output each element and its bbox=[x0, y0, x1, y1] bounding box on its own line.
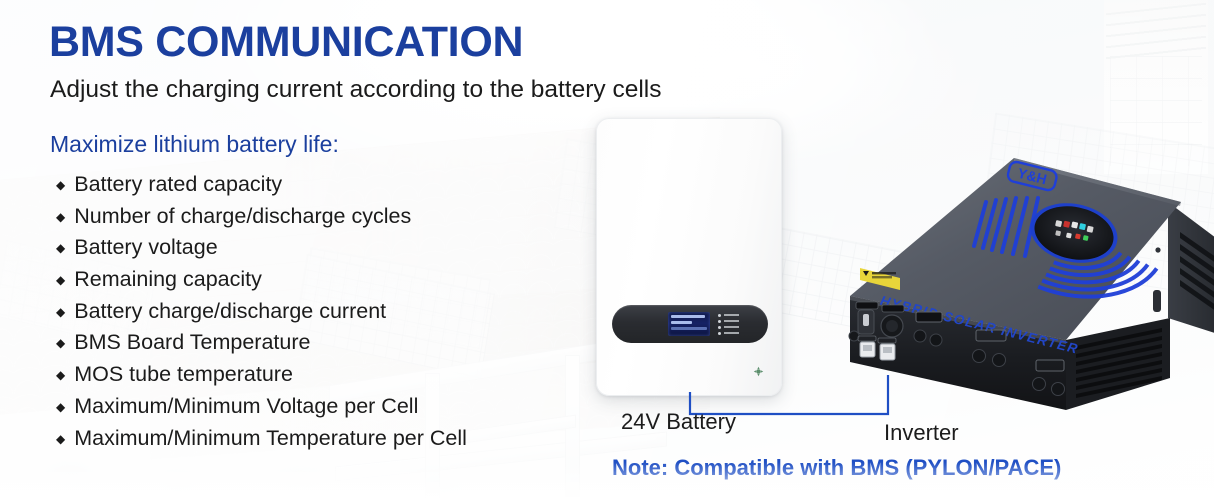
list-item: ◆ MOS tube temperature bbox=[56, 362, 576, 394]
list-item: ◆ BMS Board Temperature bbox=[56, 330, 576, 362]
page-subtitle: Adjust the charging current according to… bbox=[50, 76, 661, 104]
list-item: ◆ Maximum/Minimum Temperature per Cell bbox=[56, 426, 576, 458]
text-content: BMS COMMUNICATION Adjust the charging cu… bbox=[0, 0, 1214, 498]
list-item: ◆ Maximum/Minimum Voltage per Cell bbox=[56, 394, 576, 426]
diamond-bullet-icon: ◆ bbox=[56, 433, 65, 445]
list-item-label: MOS tube temperature bbox=[74, 362, 293, 387]
diamond-bullet-icon: ◆ bbox=[56, 306, 65, 318]
diamond-bullet-icon: ◆ bbox=[56, 242, 65, 254]
list-item-label: Maximum/Minimum Temperature per Cell bbox=[74, 426, 467, 451]
diamond-bullet-icon: ◆ bbox=[56, 211, 65, 223]
features-list: ◆ Battery rated capacity ◆ Number of cha… bbox=[56, 172, 576, 457]
features-heading: Maximize lithium battery life: bbox=[50, 131, 339, 157]
list-item-label: Battery voltage bbox=[74, 235, 217, 260]
list-item: ◆ Battery voltage bbox=[56, 235, 576, 267]
bms-communication-banner: Y&H HYBRID SOLAR INVERTER bbox=[0, 0, 1214, 498]
diamond-bullet-icon: ◆ bbox=[56, 337, 65, 349]
list-item-label: Battery charge/discharge current bbox=[74, 299, 386, 324]
inverter-caption: Inverter bbox=[884, 420, 959, 446]
list-item: ◆ Remaining capacity bbox=[56, 267, 576, 299]
page-title: BMS COMMUNICATION bbox=[49, 20, 523, 66]
list-item: ◆ Battery rated capacity bbox=[56, 172, 576, 204]
diamond-bullet-icon: ◆ bbox=[56, 401, 65, 413]
list-item-label: Maximum/Minimum Voltage per Cell bbox=[74, 394, 418, 419]
diamond-bullet-icon: ◆ bbox=[56, 274, 65, 286]
list-item-label: Number of charge/discharge cycles bbox=[74, 204, 411, 229]
diamond-bullet-icon: ◆ bbox=[56, 179, 65, 191]
battery-caption: 24V Battery bbox=[621, 409, 736, 435]
list-item-label: BMS Board Temperature bbox=[74, 330, 310, 355]
list-item: ◆ Battery charge/discharge current bbox=[56, 299, 576, 331]
list-item: ◆ Number of charge/discharge cycles bbox=[56, 204, 576, 236]
list-item-label: Remaining capacity bbox=[74, 267, 262, 292]
list-item-label: Battery rated capacity bbox=[74, 172, 282, 197]
bottom-fade bbox=[0, 462, 1214, 498]
diamond-bullet-icon: ◆ bbox=[56, 369, 65, 381]
